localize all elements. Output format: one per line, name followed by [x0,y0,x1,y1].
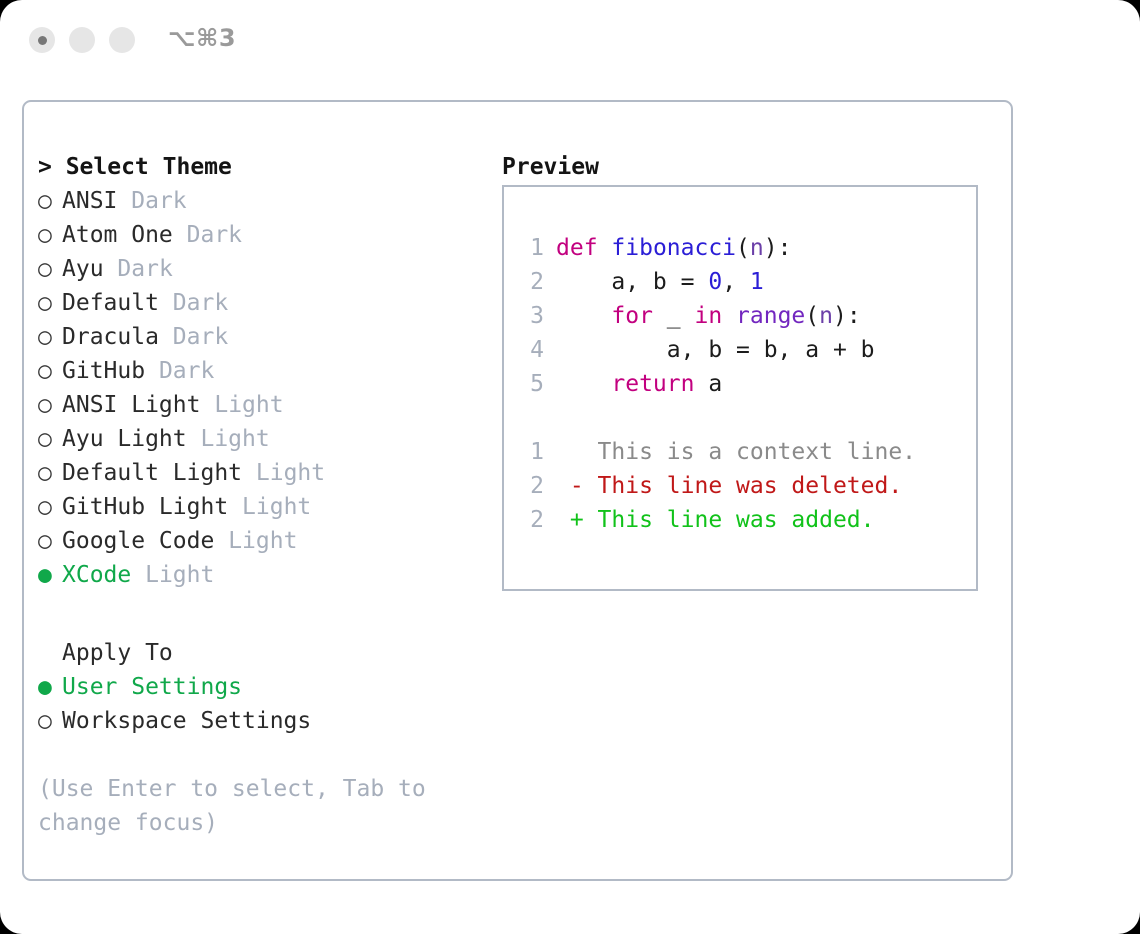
radio-unselected-icon: ○ [38,320,62,354]
radio-unselected-icon: ○ [38,524,62,558]
radio-unselected-icon: ○ [38,490,62,524]
spacer [131,562,145,588]
code-line: 1def fibonacci(n): [516,231,916,265]
code-token: def [556,235,598,261]
window-dot-active-icon[interactable] [29,27,55,53]
theme-picker-panel: > Select Theme ○ANSI Dark○Atom One Dark○… [22,100,1013,881]
code-token: fibonacci [611,235,736,261]
spacer [173,222,187,248]
title-bar: ⌥⌘3 [0,0,1140,78]
code-token: 0 [708,269,722,295]
code-token: 1 [750,269,764,295]
diff-line: 2 - This line was deleted. [516,469,916,503]
code-line-number: 1 [516,435,544,469]
keyboard-hint: (Use Enter to select, Tab to change focu… [38,772,458,840]
theme-list-item[interactable]: ○Atom One Dark [38,218,498,252]
radio-selected-icon: ● [38,558,62,592]
code-blank-line [516,401,916,435]
theme-kind-badge: Dark [173,324,228,350]
theme-name: GitHub [62,358,145,384]
code-token: n [819,303,833,329]
theme-name: Ayu Light [62,426,187,452]
radio-unselected-icon: ○ [38,456,62,490]
theme-kind-badge: Light [214,392,283,418]
theme-kind-badge: Light [200,426,269,452]
diff-line: 1 This is a context line. [516,435,916,469]
code-token: ( [736,235,750,261]
spacer [117,188,131,214]
code-token: a, b = b, a + b [556,337,875,363]
code-token [722,303,736,329]
code-token: for [611,303,653,329]
theme-list-item[interactable]: ○GitHub Dark [38,354,498,388]
code-line-number: 4 [516,333,544,367]
page-title: > Select Theme [38,150,498,184]
preview-title: Preview [502,150,1002,184]
apply-to-option[interactable]: ○Workspace Settings [38,704,498,738]
theme-kind-badge: Dark [187,222,242,248]
theme-name: Default [62,290,159,316]
code-line: 2 a, b = 0, 1 [516,265,916,299]
preview-code: 1def fibonacci(n):2 a, b = 0, 13 for _ i… [516,231,916,537]
theme-list-item[interactable]: ○Google Code Light [38,524,498,558]
spacer [145,358,159,384]
code-line: 3 for _ in range(n): [516,299,916,333]
theme-kind-badge: Light [145,562,214,588]
window-dot-second-icon[interactable] [69,27,95,53]
theme-kind-badge: Dark [117,256,172,282]
theme-name: Default Light [62,460,242,486]
spacer [214,528,228,554]
spacer [159,324,173,350]
code-token: ): [764,235,792,261]
apply-to-option-label: User Settings [62,674,242,700]
theme-kind-badge: Dark [131,188,186,214]
code-line: 4 a, b = b, a + b [516,333,916,367]
theme-kind-badge: Light [242,494,311,520]
radio-unselected-icon: ○ [38,184,62,218]
code-token: a, b = [556,269,708,295]
code-line-number: 2 [516,469,544,503]
spacer [187,426,201,452]
theme-kind-badge: Dark [159,358,214,384]
theme-name: Atom One [62,222,173,248]
window-dot-inner [38,36,47,45]
diff-line-text: This is a context line. [556,439,916,465]
theme-name: ANSI [62,188,117,214]
app-window: ⌥⌘3 > Select Theme ○ANSI Dark○Atom One D… [0,0,1140,934]
code-token: a [694,371,722,397]
theme-kind-badge: Light [256,460,325,486]
preview-box: 1def fibonacci(n):2 a, b = 0, 13 for _ i… [502,185,978,591]
spacer [159,290,173,316]
code-token: n [750,235,764,261]
code-line-number: 2 [516,503,544,537]
theme-list-item[interactable]: ○ANSI Light Light [38,388,498,422]
code-line: 5 return a [516,367,916,401]
preview-column: Preview [502,150,1002,184]
theme-name: XCode [62,562,131,588]
code-token: _ [653,303,695,329]
theme-kind-badge: Dark [173,290,228,316]
diff-line-text: - This line was deleted. [556,473,902,499]
window-dot-third-icon[interactable] [109,27,135,53]
theme-list[interactable]: ○ANSI Dark○Atom One Dark○Ayu Dark○Defaul… [38,184,498,592]
apply-to-options[interactable]: ●User Settings○Workspace Settings [38,670,498,738]
theme-kind-badge: Light [228,528,297,554]
spacer [38,738,498,772]
theme-name: Google Code [62,528,214,554]
radio-unselected-icon: ○ [38,286,62,320]
code-token: ( [805,303,819,329]
radio-unselected-icon: ○ [38,388,62,422]
theme-name: Dracula [62,324,159,350]
code-token [556,371,611,397]
theme-list-item[interactable]: ●XCode Light [38,558,498,592]
code-line-number: 2 [516,265,544,299]
code-token: ): [833,303,861,329]
code-token [598,235,612,261]
radio-unselected-icon: ○ [38,704,62,738]
radio-unselected-icon: ○ [38,422,62,456]
apply-to-label: Apply To [38,636,498,670]
code-line-number: 1 [516,231,544,265]
spacer [104,256,118,282]
code-token: in [694,303,722,329]
theme-list-item[interactable]: ○Dracula Dark [38,320,498,354]
radio-selected-icon: ● [38,670,62,704]
theme-name: ANSI Light [62,392,200,418]
apply-to-option-label: Workspace Settings [62,708,311,734]
diff-line-text: + This line was added. [556,507,875,533]
theme-name: GitHub Light [62,494,228,520]
spacer [228,494,242,520]
spacer [242,460,256,486]
radio-unselected-icon: ○ [38,354,62,388]
spacer [200,392,214,418]
code-token: return [611,371,694,397]
theme-list-item[interactable]: ○Ayu Light Light [38,422,498,456]
theme-name: Ayu [62,256,104,282]
window-controls [29,27,135,53]
theme-list-item[interactable]: ○Ayu Dark [38,252,498,286]
apply-to-option[interactable]: ●User Settings [38,670,498,704]
code-token: , [722,269,750,295]
keyboard-shortcut-label: ⌥⌘3 [168,24,236,52]
diff-line: 2 + This line was added. [516,503,916,537]
code-line-number: 3 [516,299,544,333]
theme-list-item[interactable]: ○ANSI Dark [38,184,498,218]
theme-list-column: > Select Theme ○ANSI Dark○Atom One Dark○… [38,150,498,840]
code-token [556,303,611,329]
theme-list-item[interactable]: ○GitHub Light Light [38,490,498,524]
theme-list-item[interactable]: ○Default Light Light [38,456,498,490]
code-token: range [736,303,805,329]
spacer [38,592,498,636]
radio-unselected-icon: ○ [38,218,62,252]
radio-unselected-icon: ○ [38,252,62,286]
theme-list-item[interactable]: ○Default Dark [38,286,498,320]
code-line-number: 5 [516,367,544,401]
